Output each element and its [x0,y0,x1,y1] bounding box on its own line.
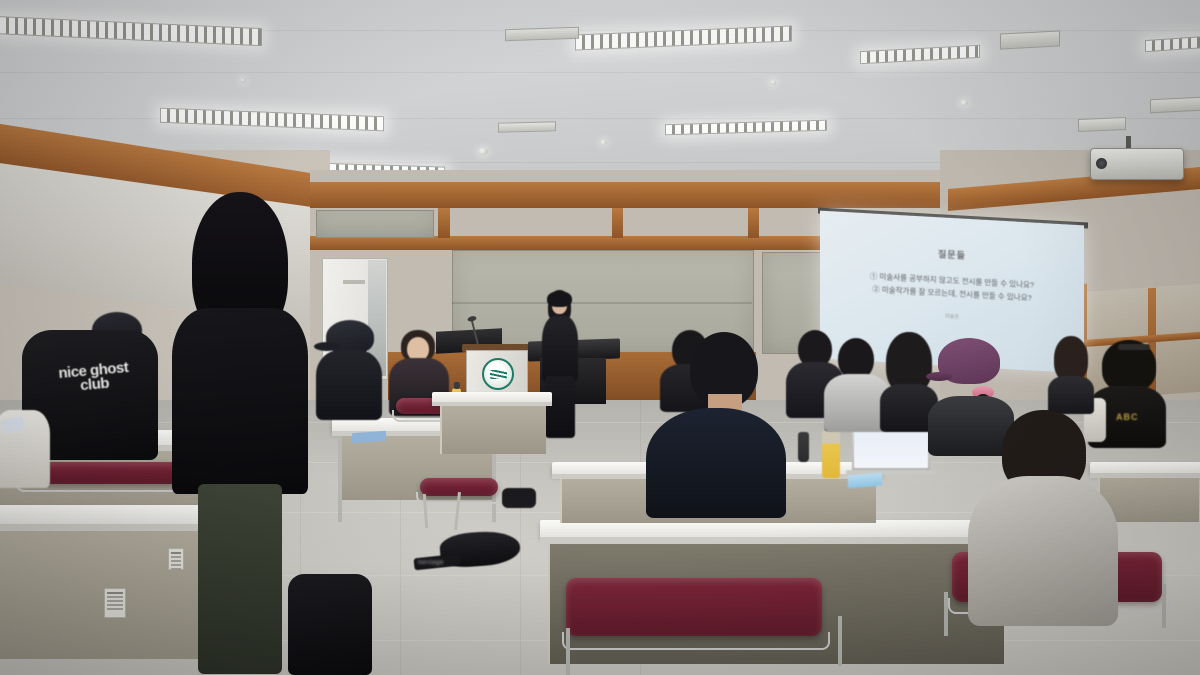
lecture-hall-photo: 질문들 ① 미술사를 공부하지 않고도 전시를 만들 수 있나요? ② 미술작가… [0,0,1200,675]
ceiling-light [160,108,384,132]
ceiling-light [665,120,827,136]
ceiling-light [1145,36,1200,52]
chair-leg [1162,584,1166,628]
backpack [502,488,536,508]
desk [432,392,552,472]
presenter-hair-front [547,291,572,307]
desk-edge [540,537,1010,544]
desk-modesty-panel [440,406,546,454]
desk-label-sticker [104,588,126,618]
student-torso [968,476,1118,626]
desk-leg [338,436,342,522]
projector-lens-icon [1096,158,1107,169]
ceiling-downlight [600,140,607,145]
ceiling-light [860,45,980,64]
ceiling-downlight [478,148,488,155]
standing-attendee-jacket [172,308,308,494]
cabinet-handle[interactable] [343,280,365,284]
varsity-jacket-text: ABC [1116,412,1139,422]
ceiling-downlight [960,100,968,106]
air-vent [1150,97,1200,114]
wood-divider [612,208,623,238]
student-foreground-center [646,332,786,512]
wood-divider [438,208,450,238]
chalkboard-left [316,210,434,238]
slide-footer: 미술관 [945,313,959,321]
presenter-torso [542,316,578,382]
slide-title: 질문들 [938,247,966,262]
student-torso [1048,376,1094,414]
chair-leg [944,592,948,636]
drink-bottle [798,432,809,462]
standing-attendee-pants [198,484,282,674]
student-torso [316,350,382,420]
wood-divider [748,208,759,238]
ceiling-light [0,16,262,46]
drink-bottle [822,430,840,478]
baseball-cap [938,338,1000,384]
cap-brim [926,372,952,381]
backpack-brand-text: heritage [418,560,444,566]
chair[interactable] [566,578,822,636]
chair-leg [838,616,842,666]
whiteboard-rail [452,302,752,304]
backpack [288,574,372,675]
chair-leg [566,628,570,675]
ceiling-downlight [240,78,246,83]
back-wall-wood-trim [310,182,950,208]
air-vent [1000,30,1060,49]
baseball-cap [326,320,374,354]
student-cap-left [316,320,382,416]
student-torso [646,408,786,518]
university-emblem [482,358,514,390]
student-white-sleeve [0,392,54,488]
air-vent [505,27,579,42]
air-vent [1078,117,1126,132]
student [1048,336,1094,406]
air-vent [498,121,556,132]
student-foreground-right [968,410,1118,620]
sunglasses-on-head-icon [1118,344,1150,350]
ceiling-downlight [770,80,776,85]
